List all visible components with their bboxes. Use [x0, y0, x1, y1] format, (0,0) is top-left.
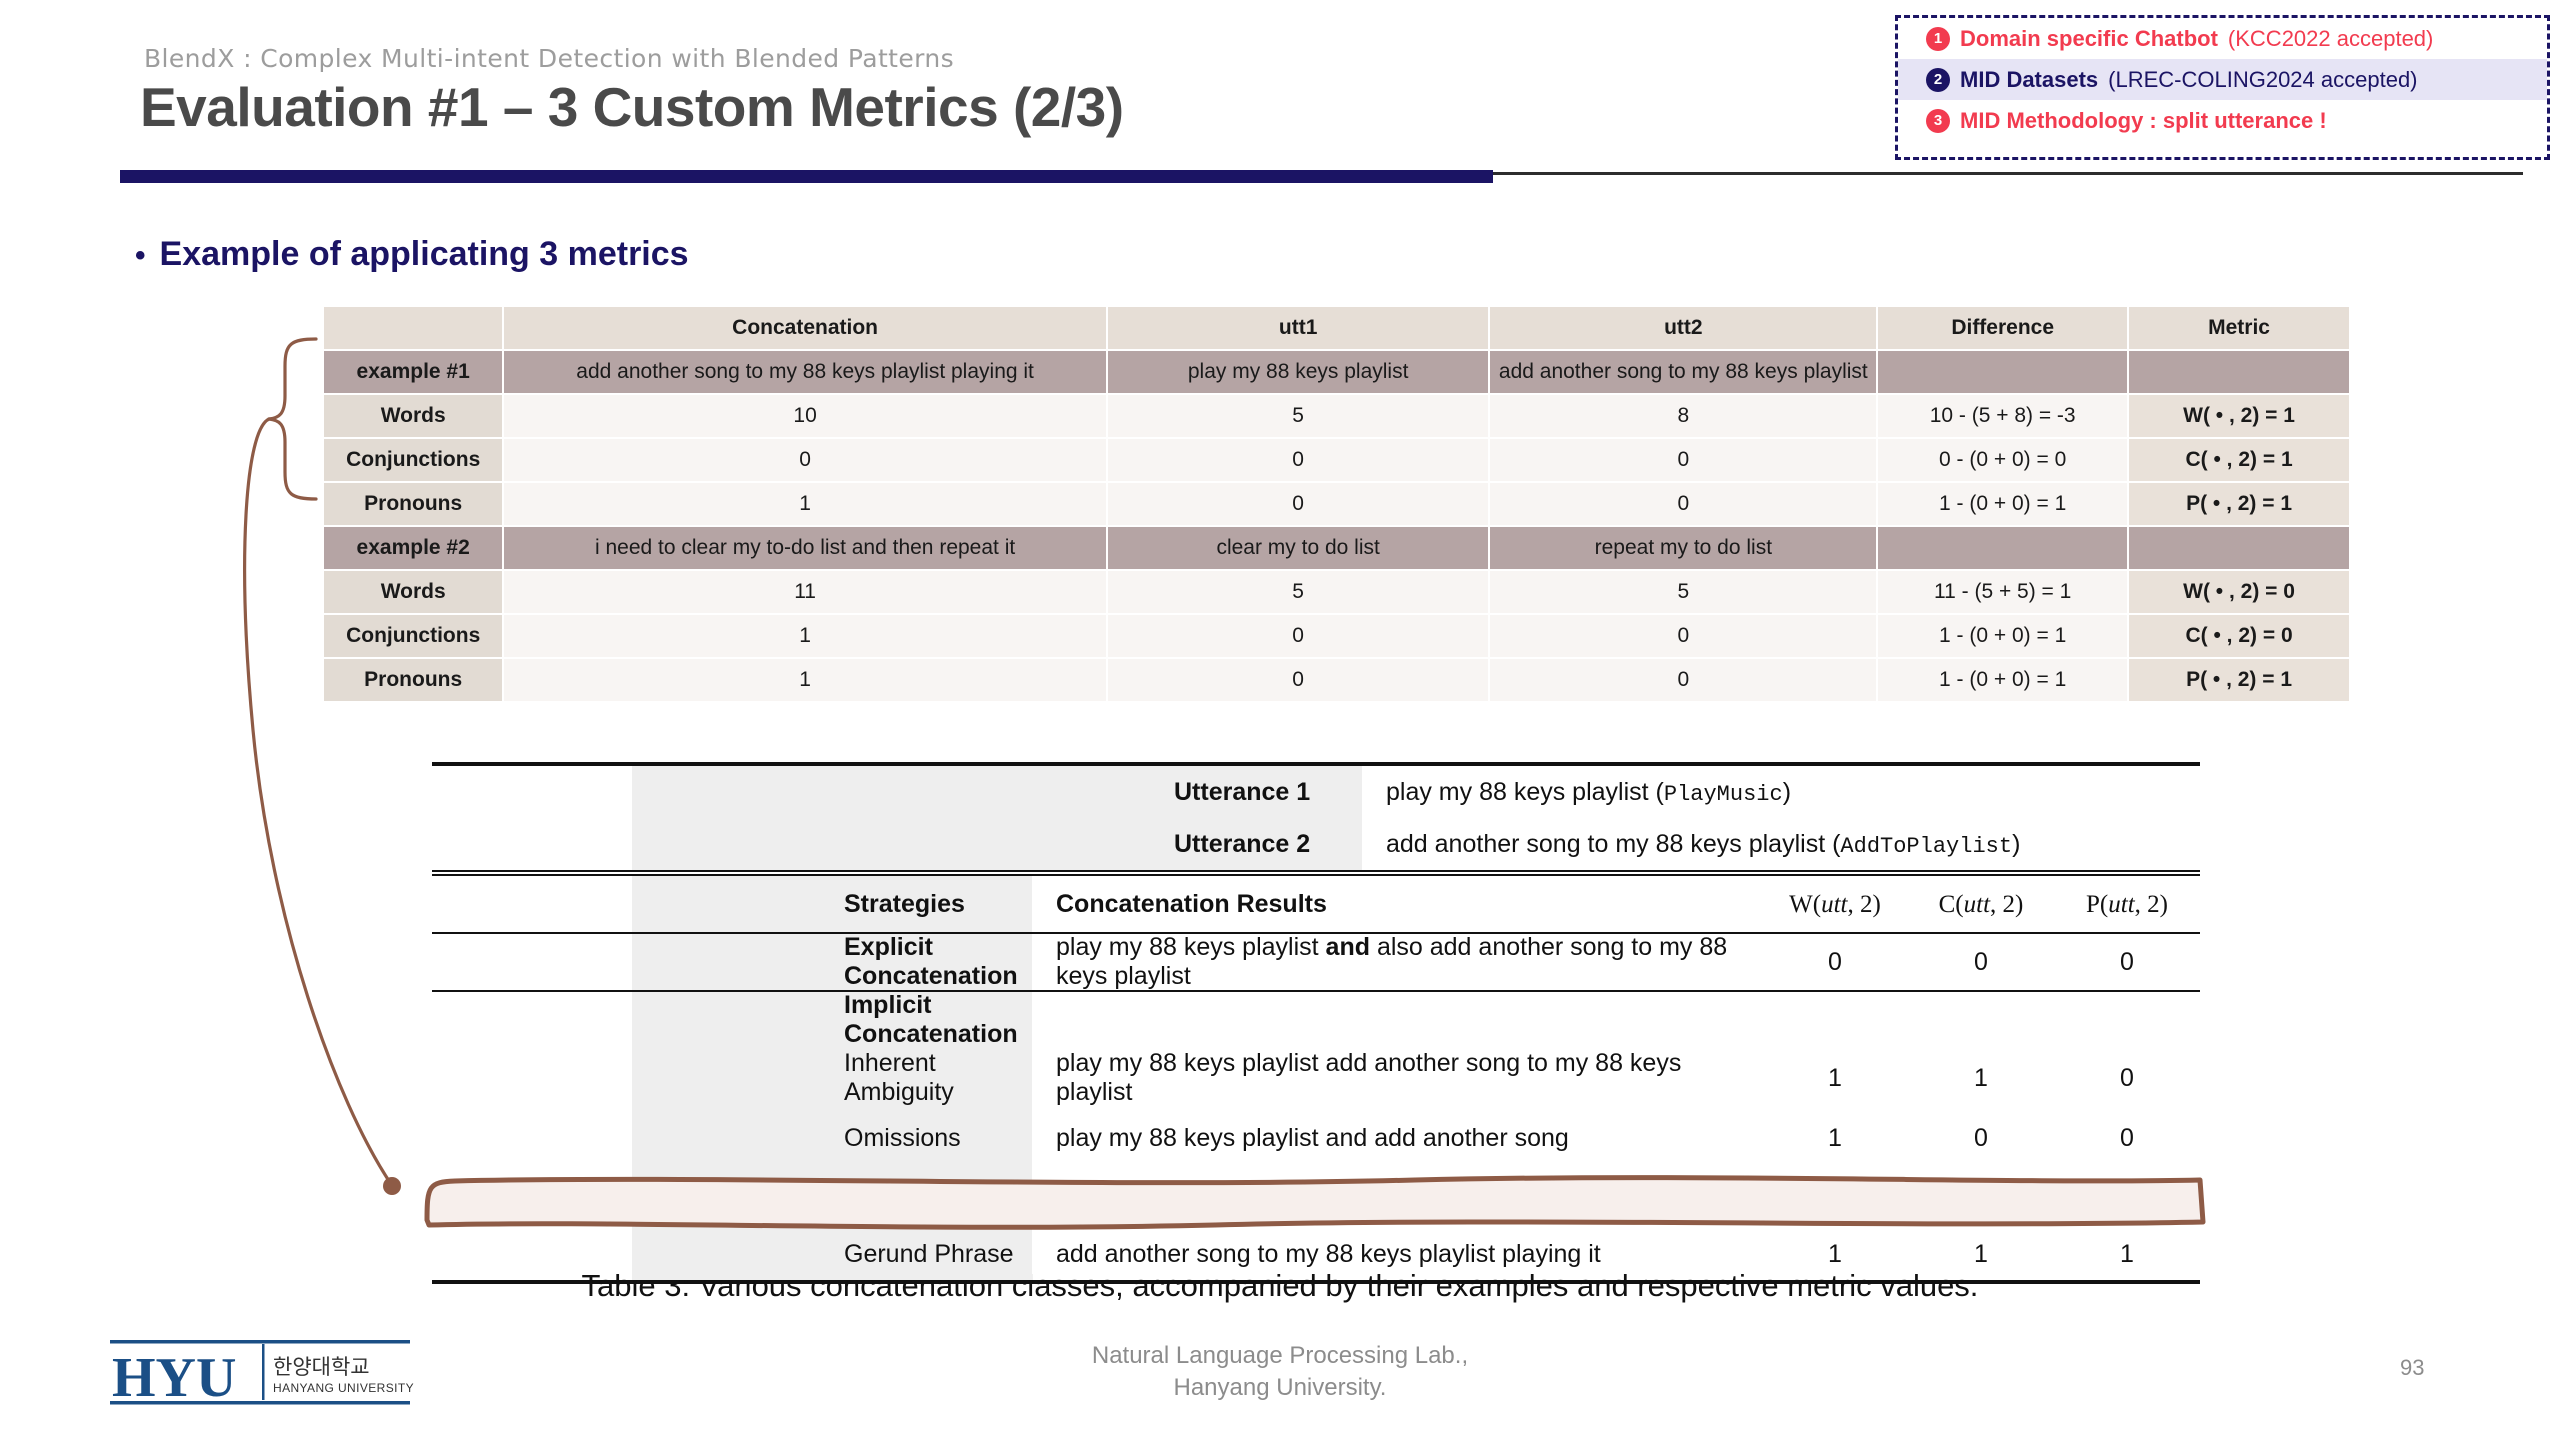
- row-label: Conjunctions: [324, 439, 502, 481]
- strategy-label: Gerund Phrase: [832, 1240, 1032, 1269]
- table-header-row: Concatenation utt1 utt2 Difference Metri…: [324, 307, 2349, 349]
- bullet-heading: •Example of applicating 3 metrics: [135, 235, 689, 274]
- cell-metric: P( • , 2) = 1: [2129, 483, 2349, 525]
- cell-metric: C( • , 2) = 1: [2129, 439, 2349, 481]
- c-value: 0: [1908, 1184, 2054, 1213]
- agenda-number-icon: 1: [1926, 27, 1950, 51]
- utterance-2-intent-code: AddToPlaylist: [1840, 834, 2012, 859]
- concatenation-result: add another song to my 88 keys playlist …: [1032, 1240, 1762, 1269]
- utterance-row-1: Utterance 1 play my 88 keys playlist (Pl…: [432, 766, 2200, 818]
- table-row: Pronouns 1 0 0 1 - (0 + 0) = 1 P( • , 2)…: [324, 483, 2349, 525]
- concatenation-result: play my 88 keys playlist and also add an…: [1032, 933, 1762, 991]
- cell-concatenation: 11: [504, 571, 1105, 613]
- p-value: 0: [2054, 1124, 2200, 1153]
- hyu-acronym: HYU: [112, 1347, 236, 1409]
- utterance-1-intent-code: PlayMusic: [1664, 782, 1783, 807]
- row-label: Conjunctions: [324, 615, 502, 657]
- cell-metric: W( • , 2) = 1: [2129, 395, 2349, 437]
- cell-difference: 10 - (5 + 8) = -3: [1878, 395, 2127, 437]
- cell-utt2: 0: [1490, 659, 1876, 701]
- w-value: 1: [1762, 1184, 1908, 1213]
- w-value: 1: [1762, 1124, 1908, 1153]
- agenda-item-2-label: MID Datasets: [1960, 67, 2098, 93]
- agenda-item-2[interactable]: 2 MID Datasets (LREC-COLING2024 accepted…: [1898, 59, 2547, 100]
- table-row: Omissions play my 88 keys playlist and a…: [432, 1108, 2200, 1168]
- cell-concatenation: 1: [504, 483, 1105, 525]
- row-label: Pronouns: [324, 659, 502, 701]
- header-w-metric: W(utt, 2): [1762, 890, 1908, 919]
- header-c-metric: C(utt, 2): [1908, 890, 2054, 919]
- agenda-item-3[interactable]: 3 MID Methodology : split utterance !: [1898, 100, 2547, 141]
- header-concatenation-results: Concatenation Results: [1032, 890, 1762, 919]
- table-caption: Table 3: Various concatenation classes, …: [0, 1268, 2560, 1304]
- connector-endpoint-dot: [383, 1177, 401, 1195]
- header-p-metric: P(utt, 2): [2054, 890, 2200, 919]
- cell-utt2: 0: [1490, 615, 1876, 657]
- cell-utt1: 0: [1108, 483, 1489, 525]
- cell-difference: 0 - (0 + 0) = 0: [1878, 439, 2127, 481]
- table-row: Implicit Concatenation: [432, 992, 2200, 1048]
- header-blank: [324, 307, 502, 349]
- table-row: Pronouns 1 0 0 1 - (0 + 0) = 1 P( • , 2)…: [324, 659, 2349, 701]
- p-value: 1: [2054, 1184, 2200, 1213]
- cell-difference: [1878, 527, 2127, 569]
- cell-concatenation: 1: [504, 659, 1105, 701]
- p-value: 0: [2054, 1064, 2200, 1093]
- table-row: Explicit Concatenation play my 88 keys p…: [432, 934, 2200, 990]
- p-value: 1: [2054, 1240, 2200, 1269]
- table-row: example #2 i need to clear my to-do list…: [324, 527, 2349, 569]
- title-underline-thin: [1493, 172, 2523, 175]
- cell-metric: W( • , 2) = 0: [2129, 571, 2349, 613]
- w-value: 1: [1762, 1064, 1908, 1093]
- hyu-korean-name: 한양대학교: [273, 1355, 370, 1379]
- table-row: Conjunctions 1 0 0 1 - (0 + 0) = 1 C( • …: [324, 615, 2349, 657]
- concatenation-result: play my 88 keys playlist and add another…: [1032, 1184, 1762, 1213]
- title-underline-bar: [120, 170, 1493, 183]
- page-title: Evaluation #1 – 3 Custom Metrics (2/3): [140, 75, 1124, 139]
- cell-concatenation: add another song to my 88 keys playlist …: [504, 351, 1105, 393]
- strategy-label: Omissions: [832, 1124, 1032, 1153]
- cell-utt2: add another song to my 88 keys playlist: [1490, 351, 1876, 393]
- w-value: 1: [1762, 1240, 1908, 1269]
- hyu-english-name: HANYANG UNIVERSITY: [273, 1381, 414, 1395]
- cell-utt1: 0: [1108, 659, 1489, 701]
- table-row: Conjunctions 0 0 0 0 - (0 + 0) = 0 C( • …: [324, 439, 2349, 481]
- header-utt1: utt1: [1108, 307, 1489, 349]
- agenda-number-icon: 2: [1926, 68, 1950, 92]
- cell-utt1: play my 88 keys playlist: [1108, 351, 1489, 393]
- row-label: Words: [324, 571, 502, 613]
- strategy-label: Coreferences: [832, 1184, 1032, 1213]
- cell-utt1: 5: [1108, 571, 1489, 613]
- page-number: 93: [2400, 1355, 2424, 1381]
- strategy-label: Explicit Concatenation: [832, 933, 1032, 991]
- concatenation-result: play my 88 keys playlist add another son…: [1032, 1049, 1762, 1107]
- hyu-logo: HYU 한양대학교 HANYANG UNIVERSITY: [110, 1338, 420, 1410]
- paper-table-3: Utterance 1 play my 88 keys playlist (Pl…: [432, 762, 2200, 1284]
- cell-metric: P( • , 2) = 1: [2129, 659, 2349, 701]
- cell-concatenation: i need to clear my to-do list and then r…: [504, 527, 1105, 569]
- c-value: 0: [1908, 1124, 2054, 1153]
- cell-utt2: 8: [1490, 395, 1876, 437]
- cell-metric: C( • , 2) = 0: [2129, 615, 2349, 657]
- utterance-2-text: add another song to my 88 keys playlist …: [1362, 830, 2092, 859]
- row-label: example #2: [324, 527, 502, 569]
- cell-metric: [2129, 527, 2349, 569]
- cell-utt1: 5: [1108, 395, 1489, 437]
- cell-concatenation: 10: [504, 395, 1105, 437]
- header-metric: Metric: [2129, 307, 2349, 349]
- c-value: 1: [1908, 1064, 2054, 1093]
- cell-utt2: repeat my to do list: [1490, 527, 1876, 569]
- cell-difference: 1 - (0 + 0) = 1: [1878, 483, 2127, 525]
- utterance-1-label: Utterance 1: [1162, 778, 1362, 807]
- cell-difference: [1878, 351, 2127, 393]
- cell-concatenation: 1: [504, 615, 1105, 657]
- header-utt2: utt2: [1490, 307, 1876, 349]
- header-strategies: Strategies: [832, 890, 1032, 919]
- table-row: example #1 add another song to my 88 key…: [324, 351, 2349, 393]
- cell-utt1: 0: [1108, 439, 1489, 481]
- cell-utt2: 0: [1490, 483, 1876, 525]
- table-row: Inherent Ambiguity play my 88 keys playl…: [432, 1048, 2200, 1108]
- table-row: Words 10 5 8 10 - (5 + 8) = -3 W( • , 2)…: [324, 395, 2349, 437]
- cell-utt1: 0: [1108, 615, 1489, 657]
- agenda-item-2-note: (LREC-COLING2024 accepted): [2108, 67, 2417, 93]
- utterance-2-label: Utterance 2: [1162, 830, 1362, 859]
- c-value: 1: [1908, 1240, 2054, 1269]
- utterance-1-sentence: play my 88 keys playlist (: [1386, 778, 1664, 806]
- p-value: 0: [2054, 948, 2200, 977]
- utterance-row-2: Utterance 2 add another song to my 88 ke…: [432, 818, 2200, 870]
- cell-metric: [2129, 351, 2349, 393]
- utterance-2-sentence: add another song to my 88 keys playlist …: [1386, 830, 1840, 858]
- utterance-1-text: play my 88 keys playlist (PlayMusic): [1362, 778, 2092, 807]
- cell-difference: 1 - (0 + 0) = 1: [1878, 659, 2127, 701]
- header-concatenation: Concatenation: [504, 307, 1105, 349]
- cell-utt1: clear my to do list: [1108, 527, 1489, 569]
- utterance-1-close-paren: ): [1783, 778, 1791, 806]
- agenda-item-1-note: (KCC2022 accepted): [2228, 26, 2433, 52]
- result-bold-and: and: [1326, 933, 1370, 961]
- table-row: Coreferences play my 88 keys playlist an…: [432, 1168, 2200, 1228]
- bullet-dot-icon: •: [135, 239, 146, 272]
- strategy-label: Implicit Concatenation: [832, 991, 1032, 1049]
- agenda-number-icon: 3: [1926, 109, 1950, 133]
- row-label: example #1: [324, 351, 502, 393]
- slide-subtitle: BlendX : Complex Multi-intent Detection …: [144, 44, 954, 73]
- paper-table-header-row: Strategies Concatenation Results W(utt, …: [432, 876, 2200, 932]
- cell-utt2: 0: [1490, 439, 1876, 481]
- bullet-heading-label: Example of applicating 3 metrics: [160, 235, 689, 273]
- c-value: 0: [1908, 948, 2054, 977]
- row-label: Pronouns: [324, 483, 502, 525]
- cell-concatenation: 0: [504, 439, 1105, 481]
- strategy-label: Inherent Ambiguity: [832, 1049, 1032, 1107]
- agenda-item-1-label: Domain specific Chatbot: [1960, 26, 2218, 52]
- metrics-table: Concatenation utt1 utt2 Difference Metri…: [322, 305, 2351, 703]
- agenda-box: 1 Domain specific Chatbot (KCC2022 accep…: [1895, 15, 2550, 160]
- agenda-item-1[interactable]: 1 Domain specific Chatbot (KCC2022 accep…: [1898, 18, 2547, 59]
- cell-difference: 11 - (5 + 5) = 1: [1878, 571, 2127, 613]
- agenda-item-3-label: MID Methodology : split utterance !: [1960, 108, 2327, 134]
- cell-difference: 1 - (0 + 0) = 1: [1878, 615, 2127, 657]
- w-value: 0: [1762, 948, 1908, 977]
- utterance-2-close-paren: ): [2012, 830, 2020, 858]
- table-row: Words 11 5 5 11 - (5 + 5) = 1 W( • , 2) …: [324, 571, 2349, 613]
- result-pre: play my 88 keys playlist: [1056, 933, 1326, 961]
- header-difference: Difference: [1878, 307, 2127, 349]
- row-label: Words: [324, 395, 502, 437]
- concatenation-result: play my 88 keys playlist and add another…: [1032, 1124, 1762, 1153]
- cell-utt2: 5: [1490, 571, 1876, 613]
